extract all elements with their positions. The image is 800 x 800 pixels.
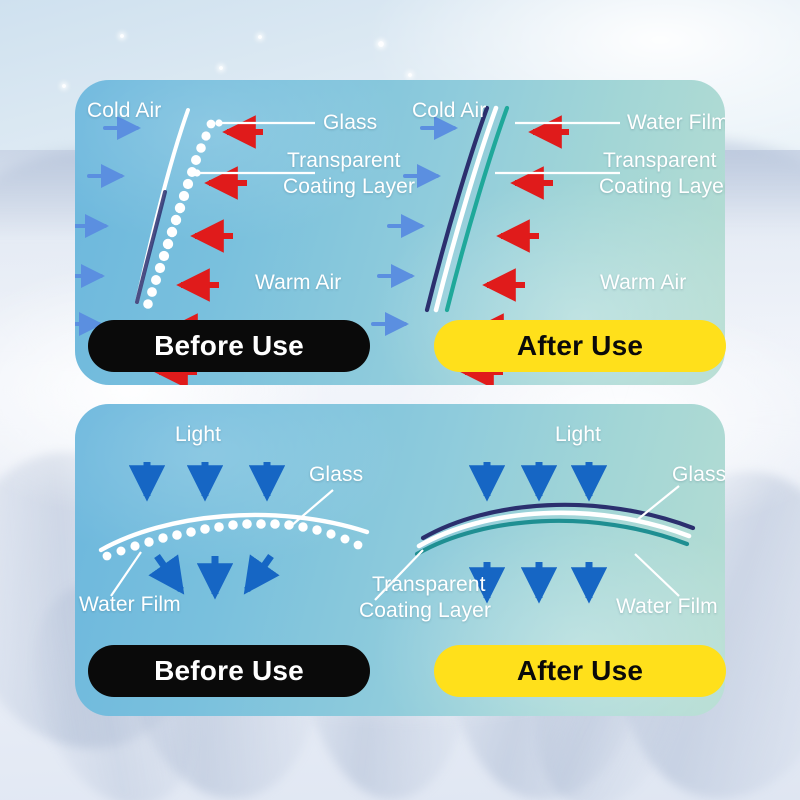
label-light-after: Light [555, 422, 601, 447]
label-water-film-before: Water Film [79, 592, 181, 617]
label-warm-air-before: Warm Air [255, 270, 341, 295]
label-cold-air-before: Cold Air [87, 98, 161, 123]
before-coating-anchor-dot [193, 169, 200, 176]
label-cold-air-after: Cold Air [412, 98, 486, 123]
before-glass-anchor-dot [215, 119, 222, 126]
label-glass-before: Glass [323, 110, 377, 135]
after-arched-layer-curves [417, 505, 693, 554]
label-warm-air-after: Warm Air [600, 270, 686, 295]
label-water-film-after: Water Film [627, 110, 725, 135]
before-cold-air-arrows [75, 128, 137, 324]
label-light-before: Light [175, 422, 221, 447]
before-incoming-light-arrows [147, 462, 267, 496]
sparkle-4 [219, 66, 223, 70]
after-incoming-light-arrows [487, 462, 589, 496]
before-light-scatter-droplets [103, 519, 363, 560]
after-outgoing-light-arrows [487, 562, 589, 598]
label-glass-before-light: Glass [309, 462, 363, 487]
sparkle-2 [258, 35, 262, 39]
label-coating-before-line1: Transparent [287, 148, 401, 174]
sparkle-1 [120, 34, 124, 38]
sparkle-5 [408, 73, 412, 77]
label-coating-bottom-line1: Transparent [372, 572, 486, 598]
label-coating-after-line2: Coating Layer [599, 174, 725, 200]
badge-before-use-light[interactable]: Before Use [88, 645, 370, 697]
badge-after-use-light[interactable]: After Use [434, 645, 726, 697]
label-coating-after-line1: Transparent [603, 148, 717, 174]
after-leader-lines [495, 123, 620, 173]
badge-after-use-thermal[interactable]: After Use [434, 320, 726, 372]
label-water-film-after-light: Water Film [616, 594, 718, 619]
before-glass-curve [137, 110, 188, 302]
before-condensation-droplets [143, 120, 215, 309]
infographic-canvas: Cold Air Warm Air Glass Transparent Coat… [0, 0, 800, 800]
label-coating-before-line2: Coating Layer [283, 174, 415, 200]
before-arched-glass [101, 515, 367, 550]
before-scattered-light-arrows [157, 556, 271, 594]
label-coating-bottom-line2: Coating Layer [359, 598, 491, 624]
label-glass-after-light: Glass [672, 462, 725, 487]
before-light-leader-lines [111, 490, 333, 596]
sparkle-6 [62, 84, 66, 88]
after-layer-curves [427, 108, 507, 310]
sparkle-3 [378, 41, 384, 47]
badge-before-use-thermal[interactable]: Before Use [88, 320, 370, 372]
